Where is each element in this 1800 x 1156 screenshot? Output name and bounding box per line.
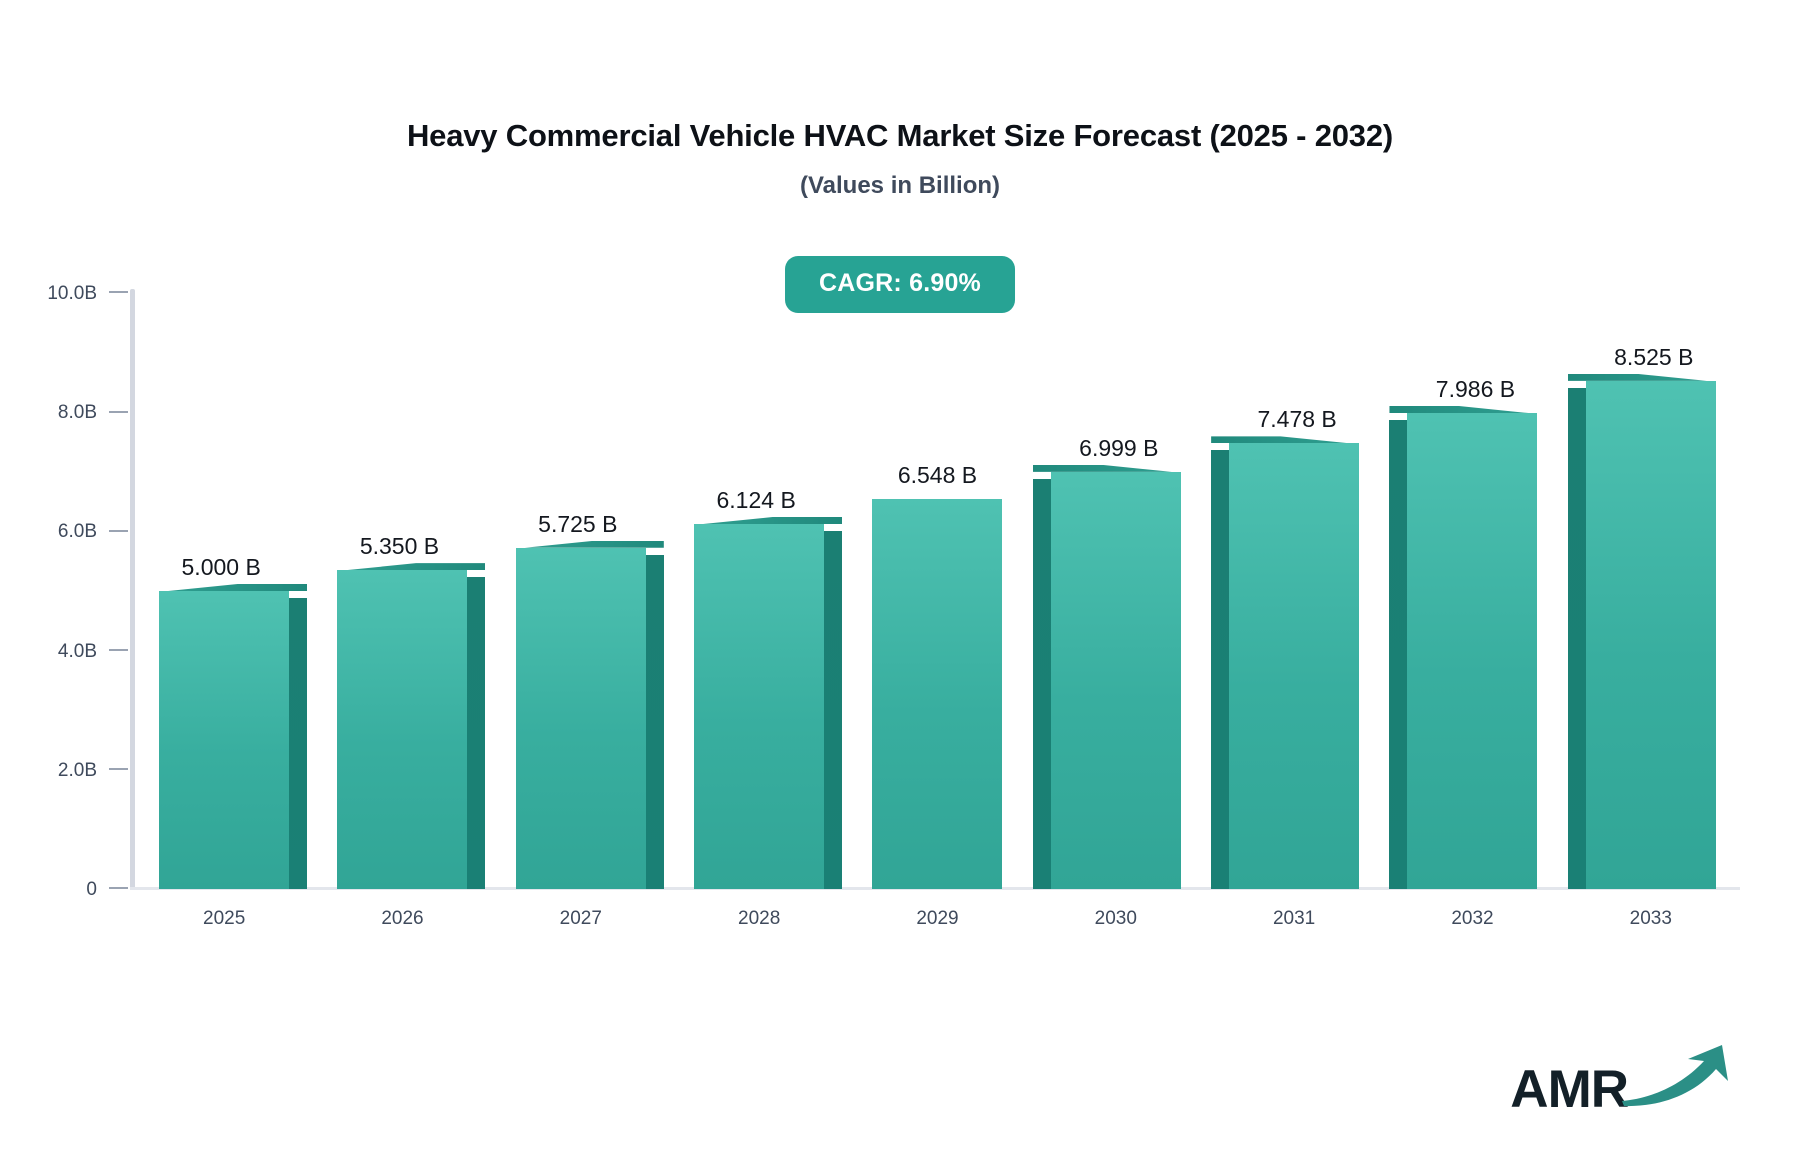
y-tick-10-0B: 10.0B: [0, 283, 130, 305]
bar-front-face: [1051, 472, 1181, 889]
bar-side-face: [467, 577, 485, 889]
y-tick-2-0B: 2.0B: [0, 760, 130, 782]
bar-front-face: [872, 499, 1002, 889]
x-label-2033: 2033: [1562, 908, 1740, 930]
y-tick-label: 10.0B: [47, 283, 97, 305]
bar-2028[interactable]: 6.124 B: [694, 524, 824, 889]
bar-slot: 5.350 B: [313, 293, 491, 889]
y-tick-mark: [109, 649, 128, 651]
bar-slot: 6.999 B: [1027, 293, 1205, 889]
x-label-2026: 2026: [313, 908, 491, 930]
bar-top-face: [525, 541, 664, 548]
bar-top-face: [346, 563, 485, 570]
bar-side-face: [1033, 479, 1051, 889]
bar-2033[interactable]: 8.525 B: [1586, 381, 1716, 889]
bar-side-face: [289, 598, 307, 889]
y-tick-mark: [109, 291, 128, 293]
bar-front-face: [1586, 381, 1716, 889]
x-label-2028: 2028: [670, 908, 848, 930]
bar-value-label: 7.986 B: [1436, 376, 1515, 403]
x-label-2027: 2027: [492, 908, 670, 930]
bar-slot: 7.478 B: [1205, 293, 1383, 889]
bar-front-face: [159, 591, 289, 889]
bar-2025[interactable]: 5.000 B: [159, 591, 289, 889]
y-tick-6-0B: 6.0B: [0, 521, 130, 543]
bar-top-face: [168, 584, 307, 591]
y-tick-label: 8.0B: [58, 402, 97, 424]
bar-side-face: [1389, 420, 1407, 889]
bar-slot: 6.124 B: [670, 293, 848, 889]
bar-slot: 8.525 B: [1562, 293, 1740, 889]
bar-2026[interactable]: 5.350 B: [337, 570, 467, 889]
y-tick-label: 4.0B: [58, 641, 97, 663]
chart-canvas: Heavy Commercial Vehicle HVAC Market Siz…: [0, 0, 1800, 1156]
bar-value-label: 5.000 B: [182, 554, 261, 581]
x-label-2029: 2029: [848, 908, 1026, 930]
bar-2029[interactable]: 6.548 B: [872, 499, 1002, 889]
chart-title: Heavy Commercial Vehicle HVAC Market Siz…: [0, 118, 1800, 154]
logo-text: AMR: [1510, 1063, 1628, 1116]
x-label-2030: 2030: [1027, 908, 1205, 930]
y-tick-label: 6.0B: [58, 521, 97, 543]
bar-side-face: [1211, 450, 1229, 889]
y-tick-0: 0: [0, 879, 130, 901]
bar-front-face: [1229, 443, 1359, 889]
bar-top-face: [1033, 465, 1172, 472]
bar-2030[interactable]: 6.999 B: [1051, 472, 1181, 889]
growth-arrow-icon: [1618, 1039, 1738, 1114]
x-label-2025: 2025: [135, 908, 313, 930]
bar-slot: 5.725 B: [492, 293, 670, 889]
x-label-2031: 2031: [1205, 908, 1383, 930]
bar-value-label: 7.478 B: [1257, 406, 1336, 433]
bar-side-face: [1568, 388, 1586, 889]
bar-top-face: [1211, 436, 1350, 443]
bar-front-face: [337, 570, 467, 889]
bar-side-face: [646, 555, 664, 889]
bar-value-label: 6.124 B: [716, 487, 795, 514]
bar-slot: 6.548 B: [848, 293, 1026, 889]
bar-top-face: [1568, 374, 1707, 381]
x-axis-labels: 202520262027202820292030203120322033: [135, 908, 1740, 930]
bar-top-face: [703, 517, 842, 524]
bar-value-label: 6.548 B: [898, 462, 977, 489]
bar-front-face: [694, 524, 824, 889]
bar-2031[interactable]: 7.478 B: [1229, 443, 1359, 889]
y-tick-mark: [109, 768, 128, 770]
bar-slot: 5.000 B: [135, 293, 313, 889]
bar-value-label: 5.725 B: [538, 511, 617, 538]
plot-area: 10.0B8.0B6.0B4.0B2.0B0 5.000 B5.350 B5.7…: [130, 289, 1740, 894]
y-tick-label: 2.0B: [58, 760, 97, 782]
bar-side-face: [824, 531, 842, 889]
bar-2027[interactable]: 5.725 B: [516, 548, 646, 889]
bar-value-label: 5.350 B: [360, 533, 439, 560]
bar-slot: 7.986 B: [1383, 293, 1561, 889]
chart-subtitle: (Values in Billion): [0, 172, 1800, 200]
amr-logo: AMR: [1510, 1036, 1738, 1116]
bar-value-label: 8.525 B: [1614, 344, 1693, 371]
bar-front-face: [516, 548, 646, 889]
y-tick-mark: [109, 530, 128, 532]
y-tick-8-0B: 8.0B: [0, 402, 130, 424]
y-tick-mark: [109, 887, 128, 889]
bar-value-label: 6.999 B: [1079, 435, 1158, 462]
bar-front-face: [1407, 413, 1537, 889]
bar-series: 5.000 B5.350 B5.725 B6.124 B6.548 B6.999…: [135, 293, 1740, 889]
bar-top-face: [1389, 406, 1528, 413]
y-tick-mark: [109, 411, 128, 413]
y-tick-label: 0: [86, 879, 97, 901]
x-label-2032: 2032: [1383, 908, 1561, 930]
y-tick-4-0B: 4.0B: [0, 641, 130, 663]
bar-2032[interactable]: 7.986 B: [1407, 413, 1537, 889]
